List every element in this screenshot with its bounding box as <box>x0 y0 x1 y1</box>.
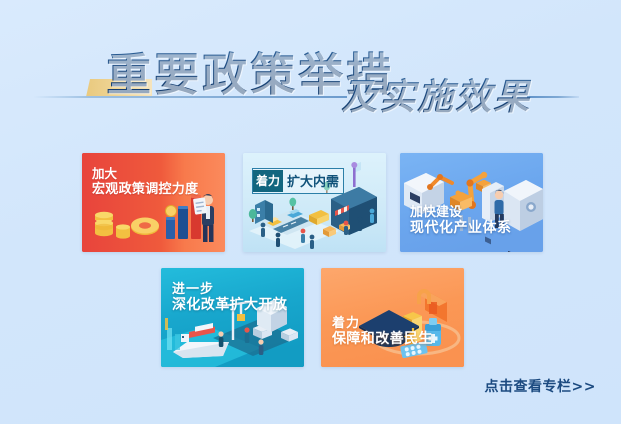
policy-card-livelihood[interactable]: 着力 保障和改善民生 <box>321 268 464 367</box>
card-3-illustration <box>400 153 543 252</box>
card-3-caption: 加快建设 现代化产业体系 <box>410 205 512 237</box>
card-3-line2: 现代化产业体系 <box>410 220 512 237</box>
card-4-caption: 进一步 深化改革扩大开放 <box>172 282 287 314</box>
card-5-caption: 着力 保障和改善民生 <box>332 316 433 348</box>
poster-canvas: 重要政策举措 及实施效果 <box>0 0 621 424</box>
card-2-tag: 着力 <box>253 170 283 192</box>
policy-card-reform-opening[interactable]: 进一步 深化改革扩大开放 <box>161 268 304 367</box>
page-title-sub: 及实施效果 <box>341 68 531 120</box>
card-3-line1: 加快建设 <box>410 205 512 220</box>
title-rule-right <box>527 96 579 98</box>
card-5-line2: 保障和改善民生 <box>332 331 433 348</box>
policy-card-macro-control[interactable]: 加大 宏观政策调控力度 <box>82 153 225 252</box>
card-1-line1: 加大 <box>92 167 198 182</box>
card-1-caption: 加大 宏观政策调控力度 <box>92 167 198 197</box>
card-5-tag: 着力 <box>332 316 433 331</box>
card-1-line2: 宏观政策调控力度 <box>92 182 198 197</box>
card-4-line1: 进一步 <box>172 282 287 297</box>
policy-card-expand-demand[interactable]: 着力 扩大内需 <box>243 153 386 252</box>
card-2-caption: 着力 扩大内需 <box>252 168 344 194</box>
card-2-line2: 扩大内需 <box>283 169 343 193</box>
card-4-line2: 深化改革扩大开放 <box>172 297 287 314</box>
poster-header: 重要政策举措 及实施效果 <box>0 0 621 135</box>
policy-card-modern-industry[interactable]: 加快建设 现代化产业体系 <box>400 153 543 252</box>
view-column-link[interactable]: 点击查看专栏>> <box>485 376 596 396</box>
